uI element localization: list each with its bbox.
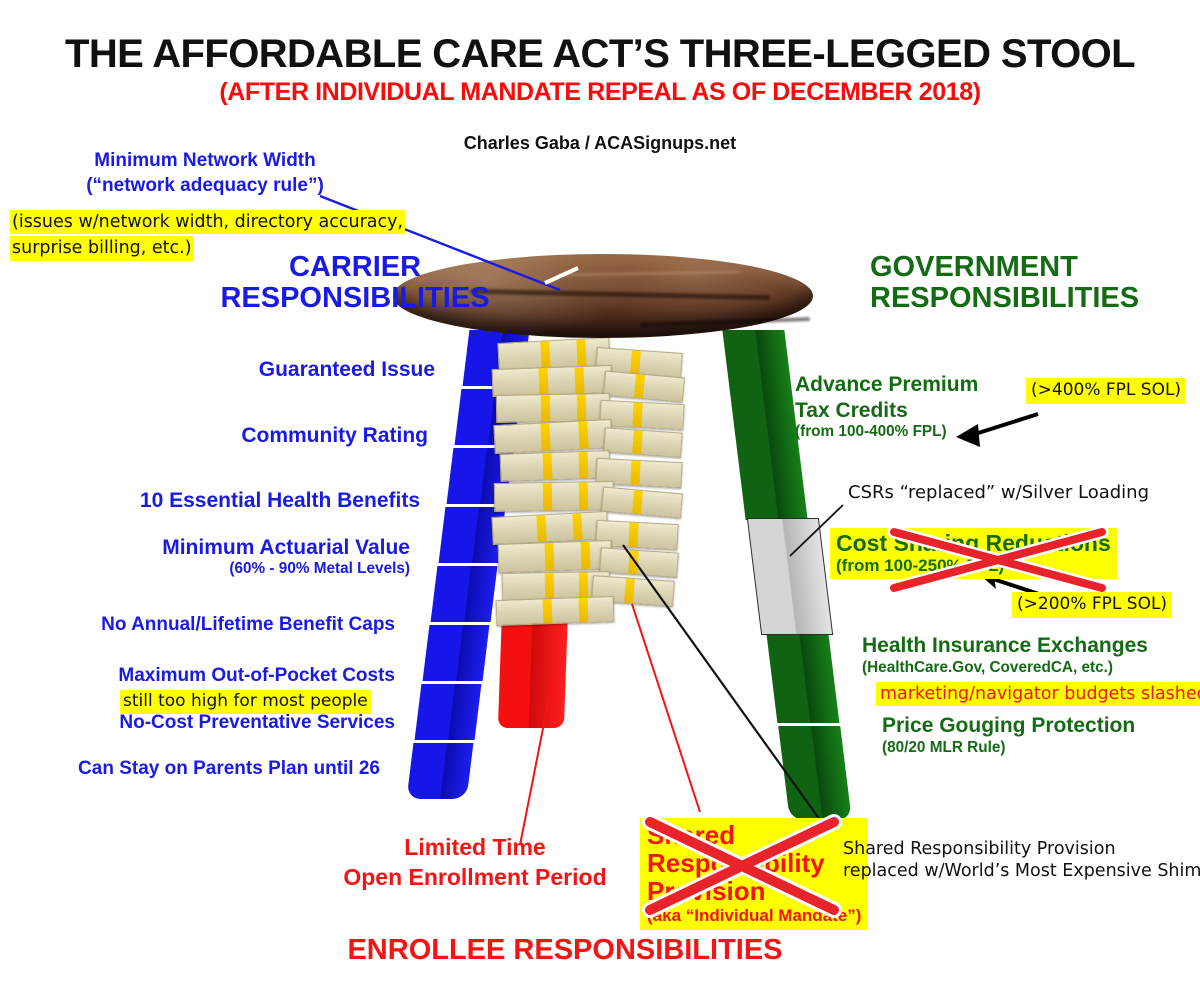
csr-badge-label: (>200% FPL SOL) (1012, 592, 1172, 618)
carrier-item-sub: (60% - 90% Metal Levels) (10, 560, 410, 578)
enrollee-item-line2: Responsibility (647, 849, 861, 877)
carrier-item-label: Minimum Actuarial Value (162, 536, 410, 559)
carrier-callout-line1: Minimum Network Width (40, 148, 370, 173)
carrier-item-label: Maximum Out-of-Pocket Costs (118, 665, 395, 686)
carrier-item-parents-plan: Can Stay on Parents Plan until 26 (0, 758, 380, 780)
government-heading-line1: GOVERNMENT (870, 252, 1200, 283)
silver-loading-shim (747, 518, 833, 635)
carrier-item-no-benefit-caps: No Annual/Lifetime Benefit Caps (5, 614, 395, 636)
government-item-aptc: Advance Premium Tax Credits (from 100-40… (795, 372, 1055, 441)
government-item-sub: (80/20 MLR Rule) (882, 739, 1200, 757)
carrier-note-line1: (issues w/network width, directory accur… (10, 210, 405, 234)
leg-segment (415, 684, 482, 740)
csr-annotation: CSRs “replaced” w/Silver Loading (848, 481, 1149, 504)
csr-badge: (>200% FPL SOL) (1012, 592, 1172, 618)
carrier-item-label: Can Stay on Parents Plan until 26 (78, 758, 380, 779)
government-item-label-line1: Price Gouging Protection (882, 714, 1200, 739)
carrier-item-label: No Annual/Lifetime Benefit Caps (101, 614, 395, 635)
government-item-sub: (from 100-250% FPL) (836, 556, 1111, 576)
leg-segment-foot (778, 726, 852, 820)
enrollee-item-line1: Limited Time (330, 832, 620, 862)
enrollee-item-open-enrollment: Limited Time Open Enrollment Period (330, 832, 620, 893)
leg-segment-foot (407, 743, 474, 799)
government-item-label-line1: Health Insurance Exchanges (862, 634, 1200, 659)
shim-annotation-line1: Shared Responsibility Provision (843, 838, 1200, 860)
infographic-canvas: THE AFFORDABLE CARE ACT’S THREE-LEGGED S… (0, 0, 1200, 1000)
enrollee-item-shared-responsibility: Shared Responsibility Provision (aka “In… (640, 818, 855, 930)
carrier-item-label: No-Cost Preventative Services (119, 712, 395, 733)
exchanges-note-label: marketing/navigator budgets slashed (876, 682, 1200, 706)
shim-annotation: Shared Responsibility Provision replaced… (843, 838, 1200, 883)
carrier-heading-line2: RESPONSIBILITIES (205, 283, 505, 314)
carrier-callout: Minimum Network Width (“network adequacy… (40, 148, 370, 198)
carrier-item-community-rating: Community Rating (28, 424, 428, 448)
government-item-sub: (from 100-400% FPL) (795, 423, 1055, 441)
shim-annotation-line2: replaced w/World’s Most Expensive Shim (843, 860, 1200, 882)
carrier-item-max-out-of-pocket: Maximum Out-of-Pocket Costs (5, 665, 395, 687)
enrollee-item-line3: Provision (647, 877, 861, 905)
carrier-item-minimum-actuarial-value: Minimum Actuarial Value (60% - 90% Metal… (10, 536, 410, 578)
enrollee-leg-stump (498, 608, 568, 728)
carrier-item-max-oop-note: still too high for most people (120, 690, 371, 714)
carrier-item-label: 10 Essential Health Benefits (140, 489, 420, 512)
carrier-item-essential-health-benefits: 10 Essential Health Benefits (20, 489, 420, 513)
government-item-label-line1: Advance Premium (795, 372, 1055, 398)
enrollee-item-line2: Open Enrollment Period (330, 862, 620, 892)
carrier-callout-line2: (“network adequacy rule”) (40, 173, 370, 198)
page-subtitle: (AFTER INDIVIDUAL MANDATE REPEAL AS OF D… (0, 78, 1200, 107)
enrollee-item-sub: (aka “Individual Mandate”) (647, 906, 861, 926)
government-item-label-line2: Tax Credits (795, 398, 1055, 424)
carrier-item-guaranteed-issue: Guaranteed Issue (35, 358, 435, 382)
government-item-exchanges: Health Insurance Exchanges (HealthCare.G… (862, 634, 1200, 676)
aptc-badge-label: (>400% FPL SOL) (1026, 378, 1186, 404)
exchanges-note: marketing/navigator budgets slashed (876, 682, 1200, 706)
leg-segment (423, 625, 490, 681)
leg-segment (431, 566, 498, 622)
government-item-price-gouging: Price Gouging Protection (80/20 MLR Rule… (882, 714, 1200, 756)
carrier-item-preventative-services: No-Cost Preventative Services (5, 712, 395, 734)
carrier-heading-line1: CARRIER (205, 252, 505, 283)
carrier-note-highlight: still too high for most people (120, 690, 371, 714)
government-item-sub: (HealthCare.Gov, CoveredCA, etc.) (862, 659, 1200, 677)
carrier-item-label: Community Rating (241, 424, 428, 447)
carrier-heading: CARRIER RESPONSIBILITIES (205, 252, 505, 315)
enrollee-heading: ENROLLEE RESPONSIBILITIES (0, 934, 1130, 967)
government-item-csr: Cost Sharing Reductions (from 100-250% F… (830, 528, 1130, 579)
carrier-note-line2: surprise billing, etc.) (10, 236, 194, 260)
page-title: THE AFFORDABLE CARE ACT’S THREE-LEGGED S… (0, 32, 1200, 77)
aptc-badge: (>400% FPL SOL) (1026, 378, 1186, 404)
carrier-item-label: Guaranteed Issue (259, 358, 435, 381)
enrollee-item-line1: Shared (647, 821, 861, 849)
government-item-label-line1: Cost Sharing Reductions (836, 531, 1111, 556)
money-stacks (492, 336, 682, 616)
leg-segment (767, 635, 840, 723)
government-heading: GOVERNMENT RESPONSIBILITIES (870, 252, 1200, 315)
government-heading-line2: RESPONSIBILITIES (870, 283, 1200, 314)
